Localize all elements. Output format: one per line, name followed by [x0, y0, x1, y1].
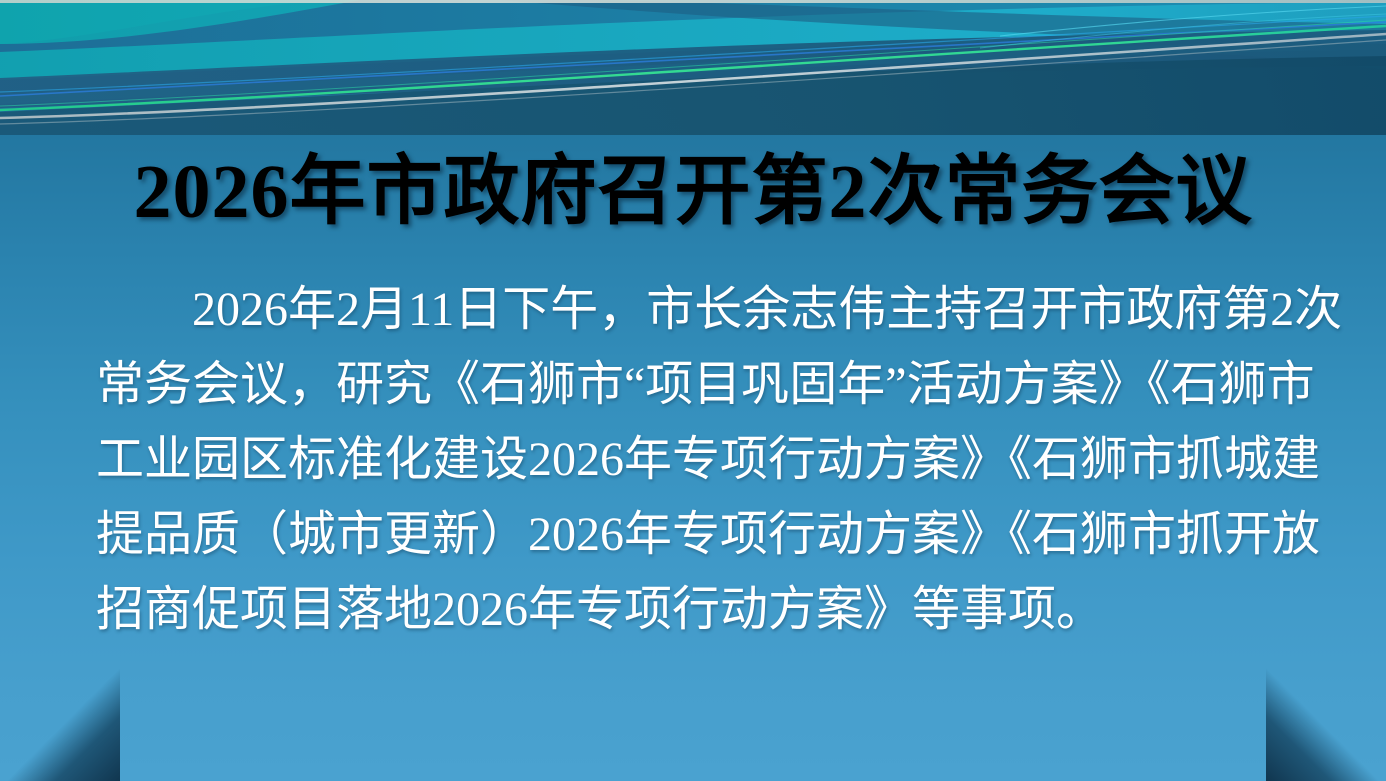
body-text-line: 工业园区标准化建设2026年专项行动方案》《石狮市抓城建	[96, 422, 1318, 497]
slide-title: 2026年市政府召开第2次常务会议	[0, 136, 1386, 232]
slide-body-paragraph: 2026年2月11日下午，市长余志伟主持召开市政府第2次 常务会议，研究《石狮市…	[96, 272, 1318, 647]
swoosh-band-graphic	[0, 0, 1386, 135]
bottom-right-shadow-wedge	[1266, 631, 1386, 781]
body-text-line: 提品质（城市更新）2026年专项行动方案》《石狮市抓开放	[96, 497, 1318, 572]
bottom-left-shadow-wedge	[0, 631, 120, 781]
body-text-line: 2026年2月11日下午，市长余志伟主持召开市政府第2次	[96, 272, 1318, 347]
top-edge-hairline	[0, 0, 1386, 3]
presentation-slide: 2026年市政府召开第2次常务会议 2026年2月11日下午，市长余志伟主持召开…	[0, 0, 1386, 781]
body-text-line: 招商促项目落地2026年专项行动方案》等事项。	[96, 572, 1318, 647]
body-text-line: 常务会议，研究《石狮市“项目巩固年”活动方案》《石狮市	[96, 347, 1318, 422]
